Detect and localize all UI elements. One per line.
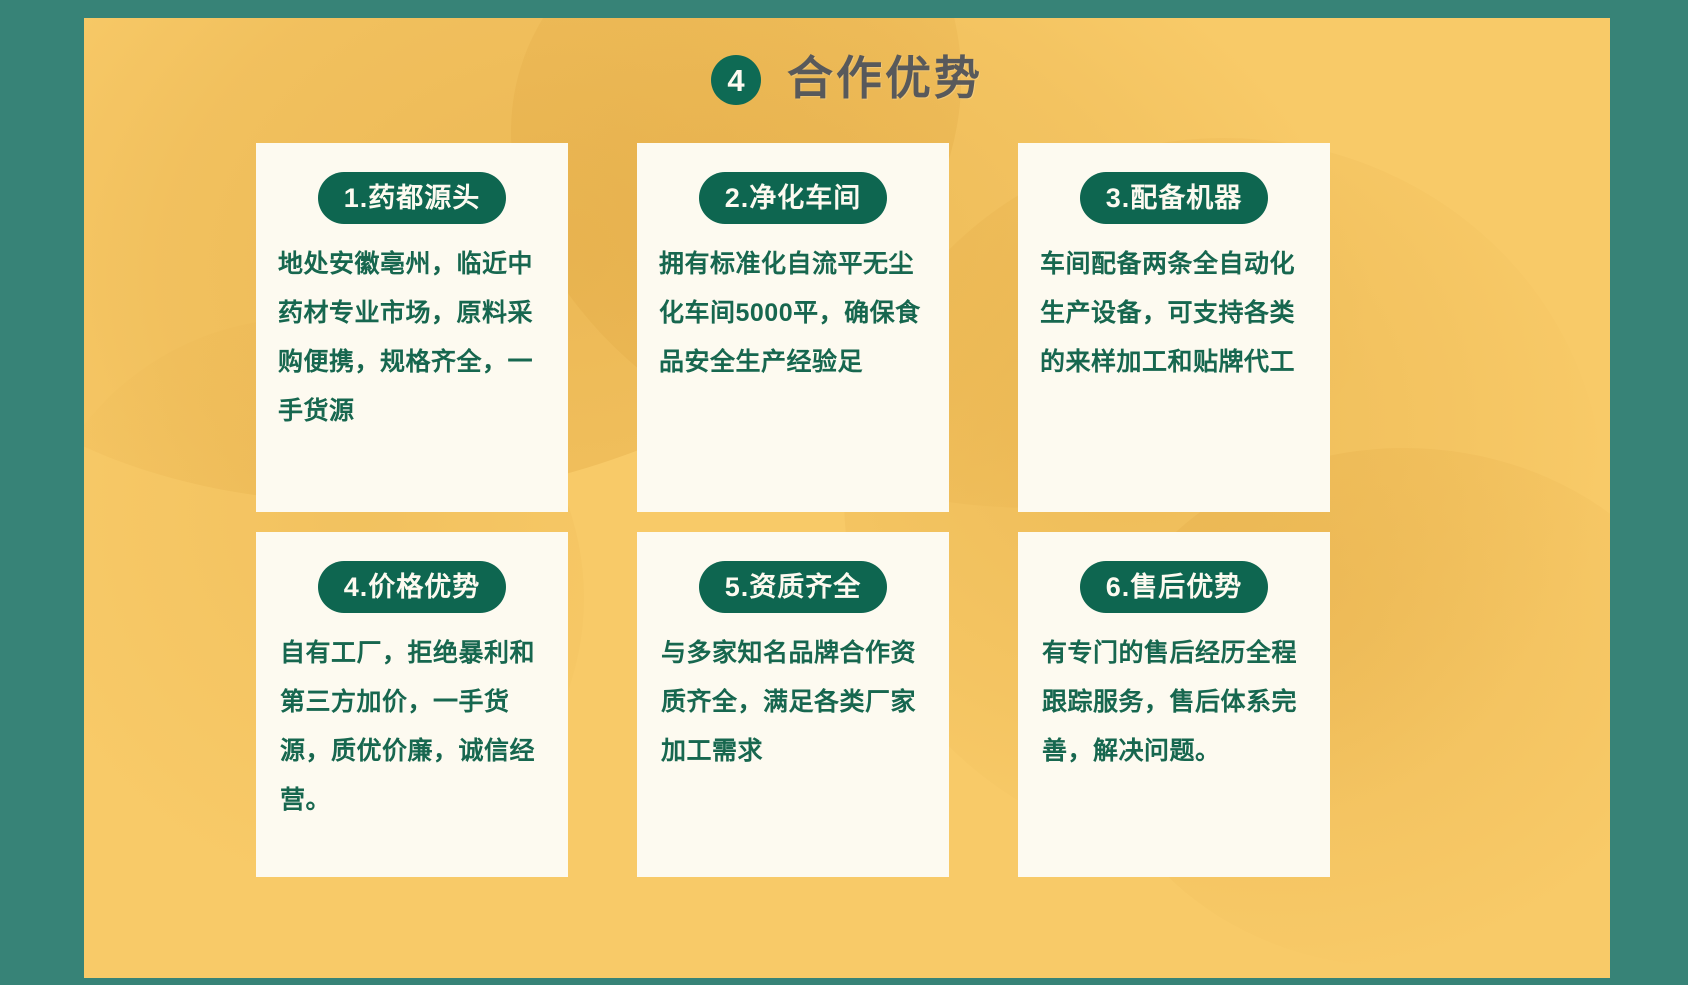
advantage-card: 1.药都源头 地处安徽亳州，临近中药材专业市场，原料采购便携，规格齐全，一手货源	[256, 143, 568, 512]
advantage-card: 6.售后优势 有专门的售后经历全程跟踪服务，售后体系完善，解决问题。	[1018, 532, 1330, 877]
advantage-card-grid: 1.药都源头 地处安徽亳州，临近中药材专业市场，原料采购便携，规格齐全，一手货源…	[256, 143, 1490, 877]
card-body-text: 与多家知名品牌合作资质齐全，满足各类厂家加工需求	[661, 629, 929, 776]
card-body-text: 车间配备两条全自动化生产设备，可支持各类的来样加工和贴牌代工	[1040, 240, 1310, 387]
page-title: 合作优势	[787, 55, 983, 101]
card-badge-wrapper: 4.价格优势	[256, 532, 568, 613]
card-body-text: 有专门的售后经历全程跟踪服务，售后体系完善，解决问题。	[1042, 629, 1310, 776]
card-badge-label: 3.配备机器	[1080, 172, 1269, 224]
card-badge-wrapper: 2.净化车间	[637, 143, 949, 224]
card-badge-wrapper: 3.配备机器	[1018, 143, 1330, 224]
card-body-text: 地处安徽亳州，临近中药材专业市场，原料采购便携，规格齐全，一手货源	[278, 240, 548, 436]
card-badge-label: 6.售后优势	[1080, 561, 1269, 613]
section-number-circle: 4	[711, 55, 761, 105]
card-badge-wrapper: 1.药都源头	[256, 143, 568, 224]
card-badge-wrapper: 5.资质齐全	[637, 532, 949, 613]
card-badge-label: 4.价格优势	[318, 561, 507, 613]
card-badge-label: 1.药都源头	[318, 172, 507, 224]
golden-panel: 4 合作优势 1.药都源头 地处安徽亳州，临近中药材专业市场，原料采购便携，规格…	[84, 18, 1610, 978]
advantage-card: 2.净化车间 拥有标准化自流平无尘化车间5000平，确保食品安全生产经验足	[637, 143, 949, 512]
card-body-text: 拥有标准化自流平无尘化车间5000平，确保食品安全生产经验足	[659, 240, 929, 387]
card-badge-label: 5.资质齐全	[699, 561, 888, 613]
card-badge-wrapper: 6.售后优势	[1018, 532, 1330, 613]
card-body-text: 自有工厂，拒绝暴利和第三方加价，一手货源，质优价廉，诚信经营。	[280, 629, 548, 825]
poster-root: 4 合作优势 1.药都源头 地处安徽亳州，临近中药材专业市场，原料采购便携，规格…	[0, 0, 1688, 985]
advantage-card: 5.资质齐全 与多家知名品牌合作资质齐全，满足各类厂家加工需求	[637, 532, 949, 877]
section-header: 4 合作优势	[84, 18, 1610, 138]
advantage-card: 4.价格优势 自有工厂，拒绝暴利和第三方加价，一手货源，质优价廉，诚信经营。	[256, 532, 568, 877]
card-badge-label: 2.净化车间	[699, 172, 888, 224]
advantage-card: 3.配备机器 车间配备两条全自动化生产设备，可支持各类的来样加工和贴牌代工	[1018, 143, 1330, 512]
